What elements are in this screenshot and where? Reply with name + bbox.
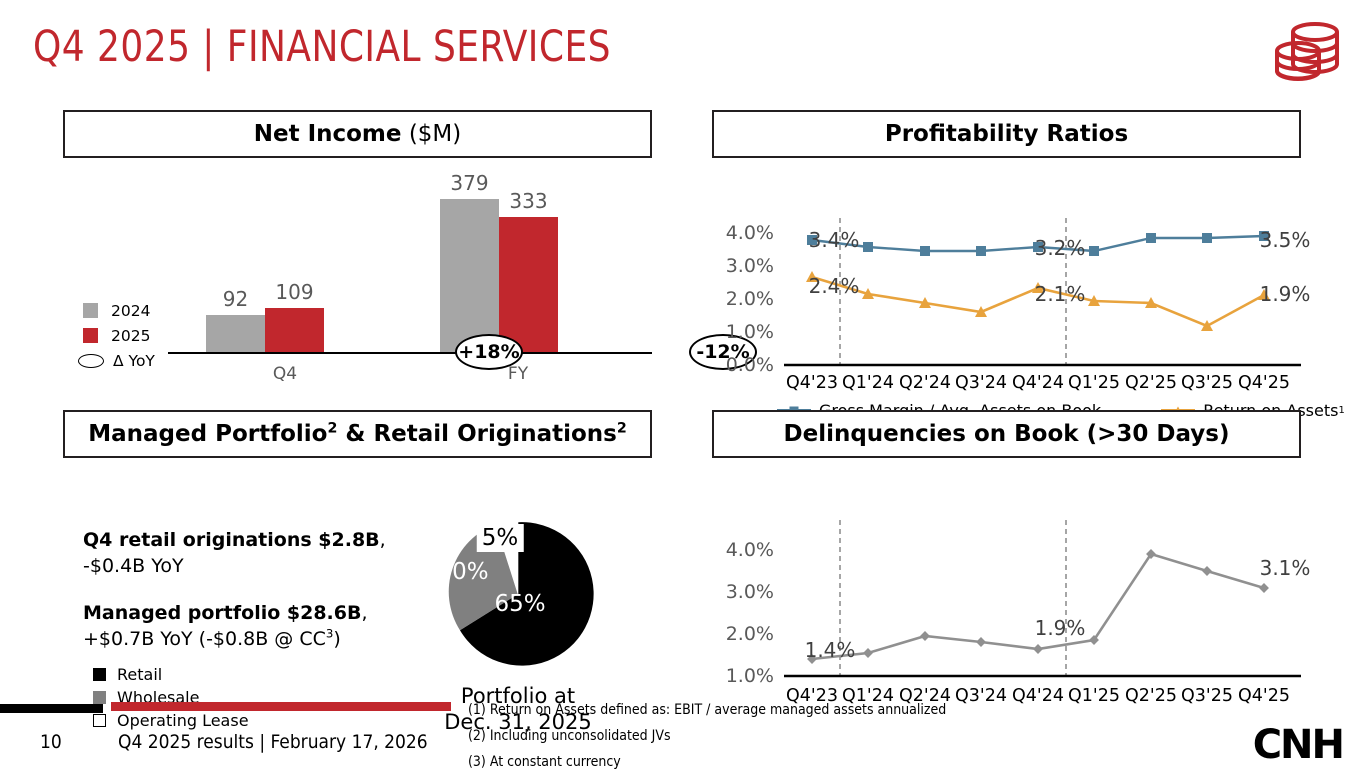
footnote-3: (3) At constant currency [468, 750, 946, 776]
x-tick-0: Q4'23 [786, 373, 838, 393]
annotation-gm-q424: 3.2% [1035, 236, 1086, 260]
bar-q4-2024: 92 [206, 315, 265, 352]
x-tick-6: Q2'25 [1125, 686, 1177, 706]
axis-label-q4: Q4 [273, 364, 297, 384]
coin-stack-icon [1271, 18, 1343, 88]
legend-swatch-retail-icon [93, 668, 106, 681]
annotation-q423: 1.4% [805, 638, 856, 662]
footnote-1: (1) Return on Assets defined as: EBIT / … [468, 698, 946, 724]
bar-value-q4-2025: 109 [275, 280, 313, 304]
bar-value-q4-2024: 92 [223, 287, 248, 311]
pie-value-operating-lease: 5% [477, 524, 524, 552]
x-tick-8: Q4'25 [1238, 686, 1290, 706]
footnote-2: (2) Including unconsolidated JVs [468, 724, 946, 750]
legend-label-operating-lease: Operating Lease [117, 711, 249, 730]
net-income-chart: 2024 2025 Δ YoY 92 [63, 158, 652, 398]
portfolio-originations-line: Q4 retail originations $2.8B, [83, 528, 386, 554]
series-delinquencies-markers [807, 549, 1269, 664]
series-delinquencies-line [812, 554, 1264, 659]
x-tick-3: Q3'24 [955, 373, 1007, 393]
x-tick-3: Q3'24 [955, 686, 1007, 706]
bar-q4-2025: 109 [265, 308, 324, 352]
x-tick-7: Q3'25 [1181, 686, 1233, 706]
legend-label-2024: 2024 [111, 302, 150, 320]
legend-swatch-2025-icon [83, 328, 98, 343]
panel-net-income-title: Net Income ($M) [254, 121, 462, 147]
y-tick-2: 2.0% [712, 623, 774, 645]
legend-label-retail: Retail [117, 665, 162, 684]
footnotes: (1) Return on Assets defined as: EBIT / … [468, 698, 946, 776]
portfolio-originations-yoy: -$0.4B YoY [83, 554, 386, 580]
panel-net-income-header: Net Income ($M) [63, 110, 652, 158]
x-tick-5: Q1'25 [1068, 373, 1120, 393]
legend-item-delta: Δ YoY [83, 348, 155, 373]
y-tick-4: 4.0% [712, 222, 774, 244]
bar-fy-2024: 379 [440, 199, 499, 352]
portfolio-managed-yoy: +$0.7B YoY (-$0.8B @ CC3) [83, 627, 386, 653]
annotation-gm-q425: 3.5% [1260, 228, 1311, 252]
panel-delinquencies: Delinquencies on Book (>30 Days) 4.0% 3.… [712, 410, 1301, 708]
x-tick-4: Q4'24 [1012, 686, 1064, 706]
pie-value-wholesale: 30% [437, 559, 488, 585]
y-tick-1: 1.0% [712, 321, 774, 343]
x-tick-4: Q4'24 [1012, 373, 1064, 393]
net-income-legend: 2024 2025 Δ YoY [83, 298, 155, 373]
bar-value-fy-2024: 379 [450, 171, 488, 195]
pie-value-retail: 65% [494, 591, 545, 617]
portfolio-legend: Retail Wholesale Operating Lease [93, 663, 249, 732]
x-tick-6: Q2'25 [1125, 373, 1177, 393]
legend-swatch-2024-icon [83, 303, 98, 318]
net-income-bars: 92 109 379 333 [168, 182, 652, 352]
delinquencies-chart: 4.0% 3.0% 2.0% 1.0% [712, 458, 1301, 708]
panel-delinquencies-header: Delinquencies on Book (>30 Days) [712, 410, 1301, 458]
spacer [83, 579, 386, 601]
ellipse-icon [78, 354, 104, 368]
profitability-chart: 4.0% 3.0% 2.0% 1.0% 0.0% [712, 158, 1301, 423]
annotation-q425: 3.1% [1260, 556, 1311, 580]
slide: Q4 2025 | FINANCIAL SERVICES Net Income … [0, 0, 1365, 768]
footer-rule-black [0, 704, 103, 713]
portfolio-body: Q4 retail originations $2.8B, -$0.4B YoY… [63, 458, 652, 708]
annotation-roa-q425: 1.9% [1260, 282, 1311, 306]
bar-fy-2025: 333 [499, 217, 558, 352]
panel-delinquencies-title: Delinquencies on Book (>30 Days) [784, 421, 1230, 447]
bar-value-fy-2025: 333 [509, 189, 547, 213]
x-tick-8: Q4'25 [1238, 373, 1290, 393]
legend-swatch-operating-lease-icon [93, 714, 106, 727]
annotation-q424: 1.9% [1035, 616, 1086, 640]
legend-label-delta: Δ YoY [113, 352, 155, 370]
legend-item-2025: 2025 [83, 323, 155, 348]
axis-label-fy: FY [508, 364, 528, 384]
x-tick-1: Q1'24 [842, 373, 894, 393]
annotation-gm-q423: 3.4% [809, 228, 860, 252]
panel-portfolio: Managed Portfolio2 & Retail Originations… [63, 410, 652, 708]
portfolio-highlights: Q4 retail originations $2.8B, -$0.4B YoY… [83, 528, 386, 653]
page-title: Q4 2025 | FINANCIAL SERVICES [33, 22, 611, 72]
delinquencies-plot [784, 520, 1301, 682]
panel-profitability: Profitability Ratios 4.0% 3.0% 2.0% 1.0%… [712, 110, 1301, 423]
legend-label-2025: 2025 [111, 327, 150, 345]
y-tick-1: 1.0% [712, 665, 774, 687]
legend-item-operating-lease: Operating Lease [93, 709, 249, 732]
portfolio-managed-line: Managed portfolio $28.6B, [83, 601, 386, 627]
panel-portfolio-title: Managed Portfolio2 & Retail Originations… [88, 421, 627, 447]
legend-swatch-wholesale-icon [93, 691, 106, 704]
legend-item-retail: Retail [93, 663, 249, 686]
y-tick-4: 4.0% [712, 539, 774, 561]
y-tick-2: 2.0% [712, 288, 774, 310]
x-tick-2: Q2'24 [899, 373, 951, 393]
bar-group-q4: 92 109 [206, 308, 324, 352]
legend-item-2024: 2024 [83, 298, 155, 323]
cnh-logo: CNH [1253, 722, 1343, 768]
panel-portfolio-header: Managed Portfolio2 & Retail Originations… [63, 410, 652, 458]
bar-group-fy: 379 333 [440, 199, 558, 352]
page-number: 10 [40, 731, 62, 753]
y-tick-3: 3.0% [712, 581, 774, 603]
panel-net-income: Net Income ($M) 2024 2025 Δ YoY [63, 110, 652, 398]
footer-rule-red [111, 702, 451, 711]
footer-info: Q4 2025 results | February 17, 2026 [118, 731, 428, 753]
y-tick-0: 0.0% [712, 354, 774, 376]
x-tick-7: Q3'25 [1181, 373, 1233, 393]
annotation-roa-q424: 2.1% [1035, 282, 1086, 306]
x-tick-5: Q1'25 [1068, 686, 1120, 706]
panel-profitability-title: Profitability Ratios [885, 121, 1128, 147]
y-tick-3: 3.0% [712, 255, 774, 277]
annotation-roa-q423: 2.4% [809, 274, 860, 298]
panel-profitability-header: Profitability Ratios [712, 110, 1301, 158]
